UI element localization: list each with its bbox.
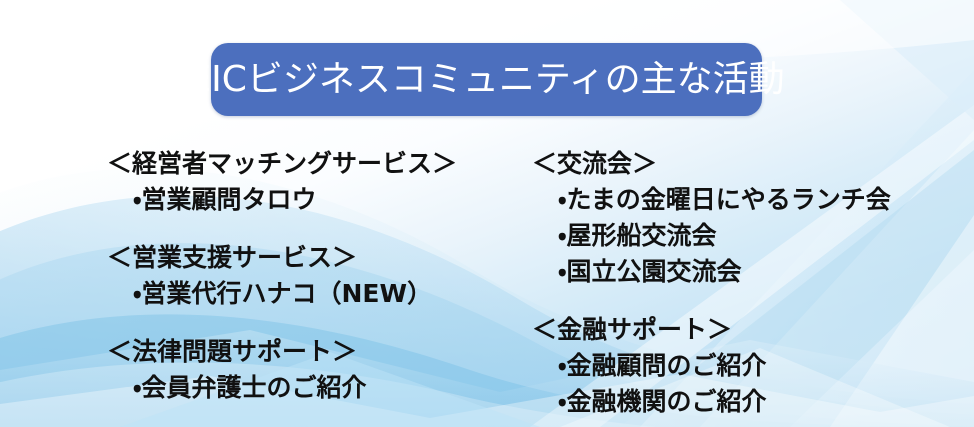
group-matching-service: ＜経営者マッチングサービス＞ ・営業顧問タロウ (107, 146, 457, 218)
group-heading: ＜交流会＞ (532, 146, 891, 182)
list-item: ・営業顧問タロウ (107, 182, 457, 218)
title-plate: EICビジネスコミュニティの主な活動 (211, 43, 762, 116)
list-item: ・たまの金曜日にやるランチ会 (532, 182, 891, 218)
list-item: ・会員弁護士のご紹介 (107, 370, 457, 406)
list-item: ・屋形船交流会 (532, 218, 891, 254)
page-title: EICビジネスコミュニティの主な活動 (188, 62, 784, 98)
list-item: ・金融機関のご紹介 (532, 384, 891, 420)
left-column: ＜経営者マッチングサービス＞ ・営業顧問タロウ ＜営業支援サービス＞ ・営業代行… (107, 146, 457, 406)
group-financial-support: ＜金融サポート＞ ・金融顧問のご紹介 ・金融機関のご紹介 (532, 312, 891, 420)
list-item: ・国立公園交流会 (532, 254, 891, 290)
group-legal-support: ＜法律問題サポート＞ ・会員弁護士のご紹介 (107, 334, 457, 406)
slide-canvas: EICビジネスコミュニティの主な活動 ＜経営者マッチングサービス＞ ・営業顧問タ… (0, 0, 974, 427)
list-item: ・営業代行ハナコ（NEW） (107, 276, 457, 312)
group-heading: ＜金融サポート＞ (532, 312, 891, 348)
group-heading: ＜経営者マッチングサービス＞ (107, 146, 457, 182)
right-column: ＜交流会＞ ・たまの金曜日にやるランチ会 ・屋形船交流会 ・国立公園交流会 ＜金… (532, 146, 891, 420)
group-heading: ＜営業支援サービス＞ (107, 240, 457, 276)
group-heading: ＜法律問題サポート＞ (107, 334, 457, 370)
list-item: ・金融顧問のご紹介 (532, 348, 891, 384)
group-networking-events: ＜交流会＞ ・たまの金曜日にやるランチ会 ・屋形船交流会 ・国立公園交流会 (532, 146, 891, 290)
group-sales-support-service: ＜営業支援サービス＞ ・営業代行ハナコ（NEW） (107, 240, 457, 312)
